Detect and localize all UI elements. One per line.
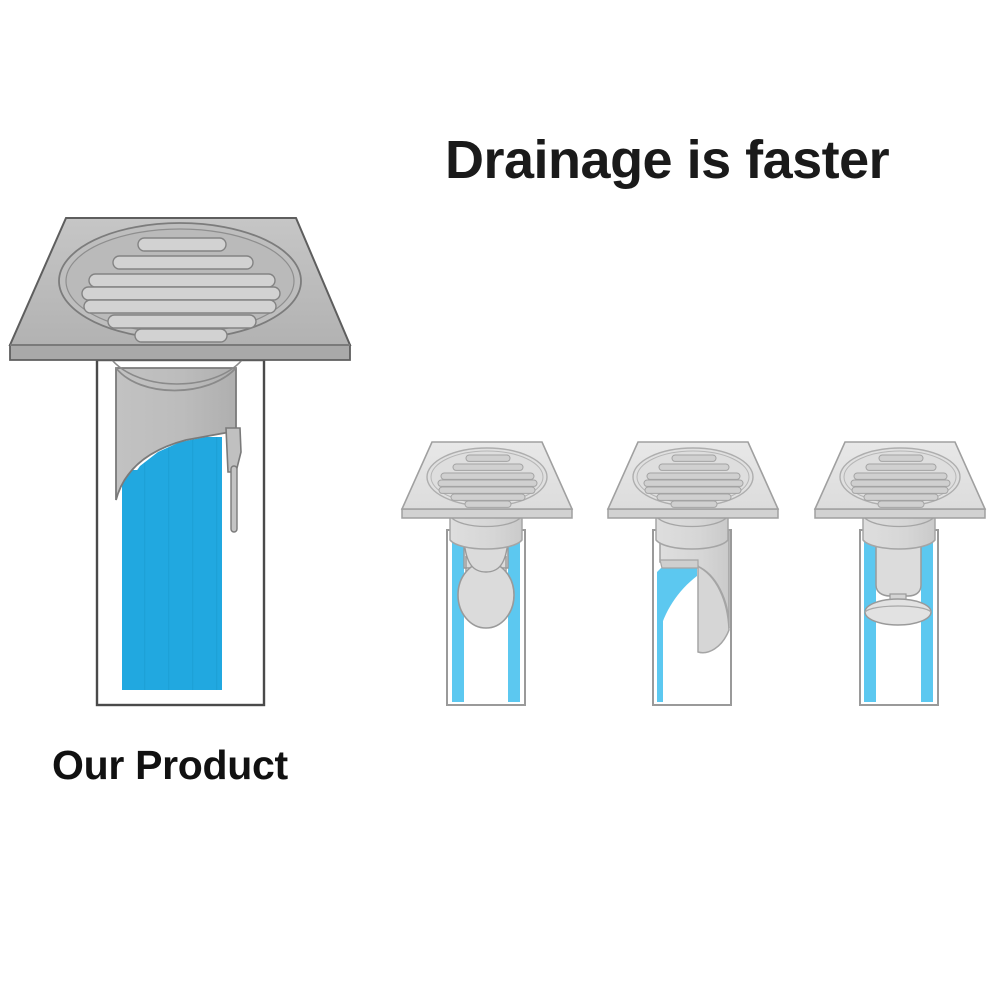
diagram-competitor-piston-seal xyxy=(815,442,985,705)
our-product-water-column xyxy=(122,437,222,690)
headline-text: Drainage is faster xyxy=(445,133,889,187)
diagram-competitor-curved-baffle xyxy=(608,442,778,705)
diagram-our-product xyxy=(10,218,350,705)
infographic-canvas: Drainage is faster Our Product xyxy=(0,0,1000,1000)
our-product-caption: Our Product xyxy=(52,745,288,786)
diagram-competitor-ball-valve xyxy=(402,442,572,705)
our-product-cover-plate xyxy=(10,218,350,360)
